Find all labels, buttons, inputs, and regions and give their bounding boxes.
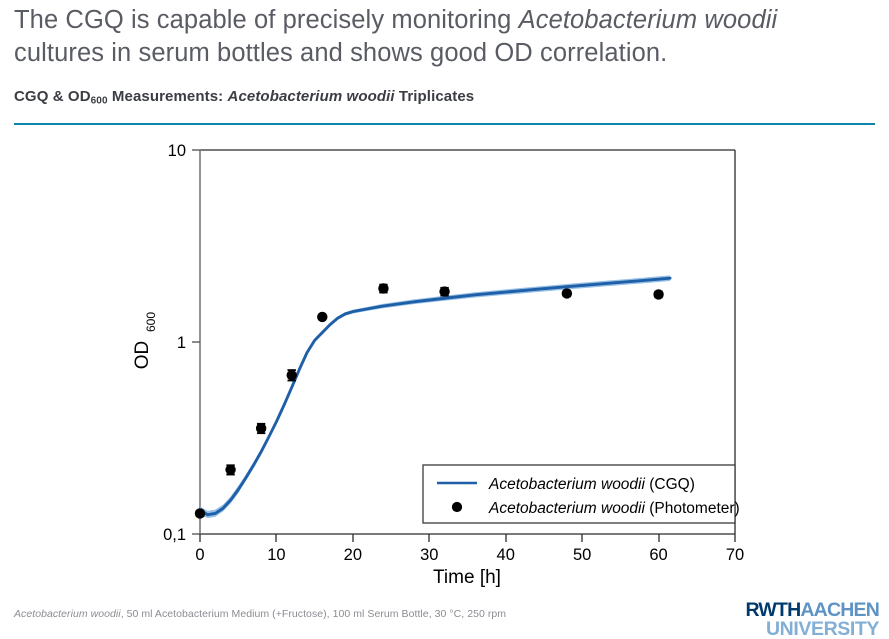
logo-line-2: UNIVERSITY [731, 620, 879, 638]
subtitle-species-name: Acetobacterium woodii [228, 88, 395, 105]
x-axis-ticks [200, 534, 735, 542]
photometer-point [378, 283, 388, 293]
header-divider [14, 123, 875, 125]
photometer-point [439, 286, 449, 296]
y-tick-label-10: 10 [168, 142, 186, 160]
photometer-point [317, 312, 327, 322]
legend-photometer-suffix: (Photometer) [645, 500, 740, 517]
x-tick-label: 60 [649, 546, 667, 564]
y-tick-label-0.1: 0,1 [163, 526, 186, 544]
legend-cgq-species: Acetobacterium woodii [488, 476, 645, 493]
title-text-a: The CGQ is capable of precisely monitori… [14, 6, 519, 34]
legend-cgq-suffix: (CGQ) [645, 476, 695, 493]
y-tick-label-1: 1 [177, 334, 186, 352]
x-axis-title: Time [h] [433, 567, 501, 588]
x-tick-label: 40 [497, 546, 515, 564]
y-axis-ticks [192, 150, 200, 534]
subtitle-text-b: Measurements: [108, 88, 228, 105]
x-tick-label: 50 [573, 546, 591, 564]
photometer-point [256, 423, 266, 433]
x-axis-tick-labels: 010203040506070 [195, 546, 744, 564]
chart-svg: 10 1 0,1 010203040506070 OD 600 Time [h]… [0, 130, 889, 595]
legend-label-photometer: Acetobacterium woodii (Photometer) [488, 500, 740, 517]
slide-canvas: The CGQ is capable of precisely monitori… [0, 0, 889, 639]
x-tick-label: 20 [344, 546, 362, 564]
slide-subtitle: CGQ & OD600 Measurements: Acetobacterium… [14, 88, 474, 107]
photometer-point [653, 289, 663, 299]
y-axis-tick-labels: 10 1 0,1 [163, 142, 186, 544]
chart-legend: Acetobacterium woodii (CGQ) Acetobacteri… [423, 465, 740, 523]
rwth-aachen-logo: RWTHAACHEN UNIVERSITY [731, 601, 879, 637]
title-line-2: cultures in serum bottles and shows good… [14, 37, 874, 70]
legend-photometer-species: Acetobacterium woodii [488, 500, 645, 517]
y-axis-title: OD 600 [132, 312, 158, 370]
footer-conditions: , 50 ml Acetobacterium Medium (+Fructose… [121, 608, 506, 620]
chart-figure: 10 1 0,1 010203040506070 OD 600 Time [h]… [0, 130, 889, 595]
subtitle-subscript: 600 [91, 96, 108, 107]
x-tick-label: 0 [195, 546, 204, 564]
photometer-point [225, 465, 235, 475]
x-tick-label: 70 [726, 546, 744, 564]
title-line-1: The CGQ is capable of precisely monitori… [14, 4, 874, 37]
photometer-point [195, 508, 205, 518]
footer-species-name: Acetobacterium woodii [14, 608, 121, 620]
photometer-point [287, 370, 297, 380]
logo-university: UNIVERSITY [766, 618, 879, 639]
y-axis-title-subscript: 600 [144, 312, 158, 332]
x-tick-label: 30 [420, 546, 438, 564]
footer-caption: Acetobacterium woodii, 50 ml Acetobacter… [14, 608, 506, 620]
photometer-point [562, 288, 572, 298]
legend-label-cgq: Acetobacterium woodii (CGQ) [488, 476, 695, 493]
page-title: The CGQ is capable of precisely monitori… [14, 4, 874, 70]
legend-dot-marker [452, 502, 462, 512]
x-tick-label: 10 [267, 546, 285, 564]
y-axis-title-text: OD [132, 341, 153, 370]
subtitle-text-a: CGQ & OD [14, 88, 91, 105]
title-species-name: Acetobacterium woodii [519, 6, 778, 34]
subtitle-text-c: Triplicates [395, 88, 475, 105]
